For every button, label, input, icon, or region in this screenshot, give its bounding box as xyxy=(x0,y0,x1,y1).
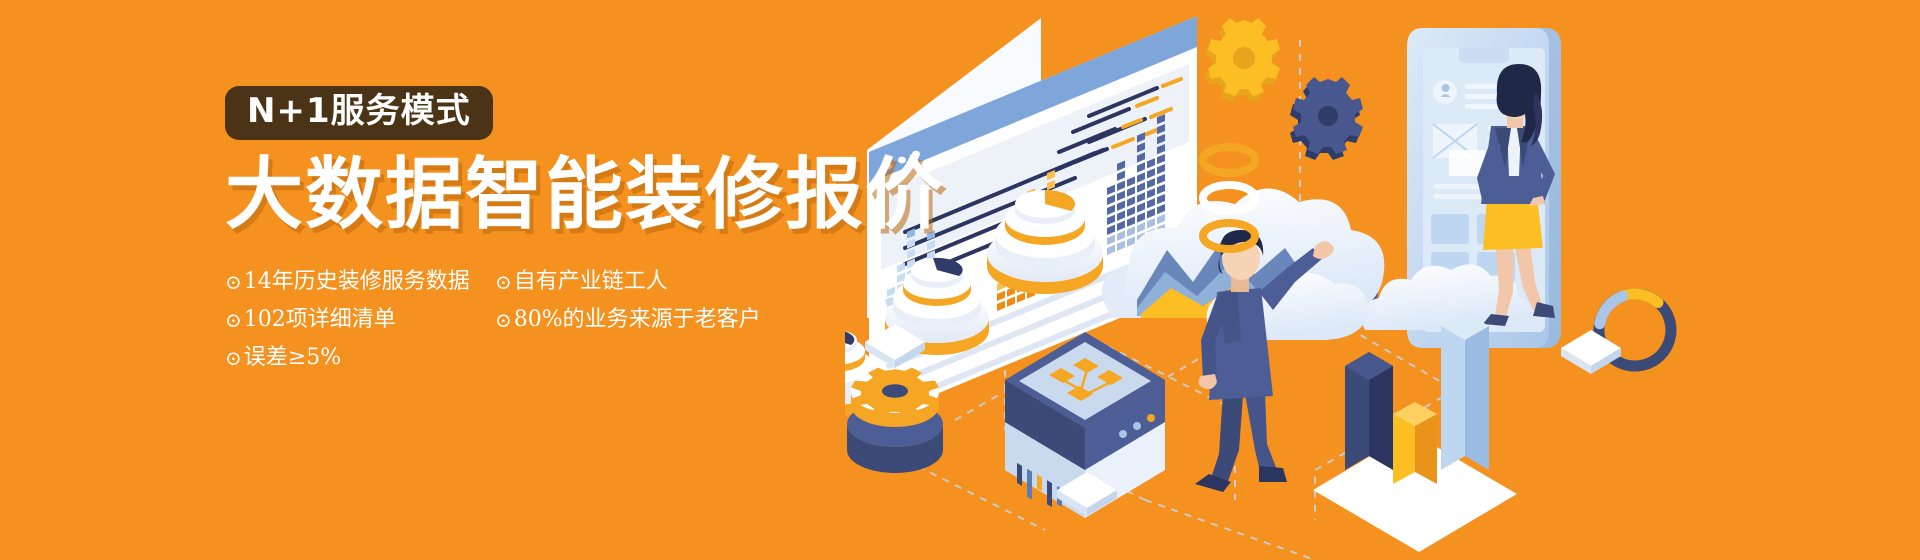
list-item: ⊙ 自有产业链工人 xyxy=(495,271,925,293)
list-item-label: 14年历史装修服务数据 xyxy=(244,271,470,293)
list-item-label: 误差≥5% xyxy=(244,347,341,369)
circled-dot-bullet-icon: ⊙ xyxy=(225,272,242,292)
list-item-label: 自有产业链工人 xyxy=(514,271,668,293)
bar-orange xyxy=(1393,402,1437,484)
bar-column-3d-group xyxy=(1313,312,1517,552)
service-mode-badge: N+1服务模式 xyxy=(225,86,493,140)
list-item: ⊙ 102项详细清单 xyxy=(225,309,487,331)
promo-banner: N+1服务模式 大数据智能装修报价 ⊙ 14年历史装修服务数据 ⊙ 102项详细… xyxy=(0,0,1920,560)
isometric-big-data-illustration xyxy=(845,0,1920,560)
circled-dot-bullet-icon: ⊙ xyxy=(225,348,242,368)
gear-icon-navy xyxy=(1290,77,1363,160)
circled-dot-bullet-icon: ⊙ xyxy=(495,272,512,292)
list-item-label: 80%的业务来源于老客户 xyxy=(514,309,761,331)
circled-dot-bullet-icon: ⊙ xyxy=(495,310,512,330)
gear-on-cylinder-platform xyxy=(847,368,943,473)
gear-icon-yellow xyxy=(1205,18,1280,102)
list-item: ⊙ 14年历史装修服务数据 xyxy=(225,271,487,293)
list-item: ⊙ 80%的业务来源于老客户 xyxy=(495,309,925,331)
bar-navy xyxy=(1345,352,1393,470)
list-item: ⊙ 误差≥5% xyxy=(225,347,487,369)
circled-dot-bullet-icon: ⊙ xyxy=(225,310,242,330)
feature-bullet-list: ⊙ 14年历史装修服务数据 ⊙ 102项详细清单 ⊙ 误差≥5% ⊙ 自有产业链… xyxy=(225,263,925,377)
page-title: 大数据智能装修报价 xyxy=(225,153,925,237)
bar-lightblue xyxy=(1441,312,1489,470)
list-item-label: 102项详细清单 xyxy=(244,309,396,331)
banner-text-block: N+1服务模式 大数据智能装修报价 ⊙ 14年历史装修服务数据 ⊙ 102项详细… xyxy=(225,86,925,377)
